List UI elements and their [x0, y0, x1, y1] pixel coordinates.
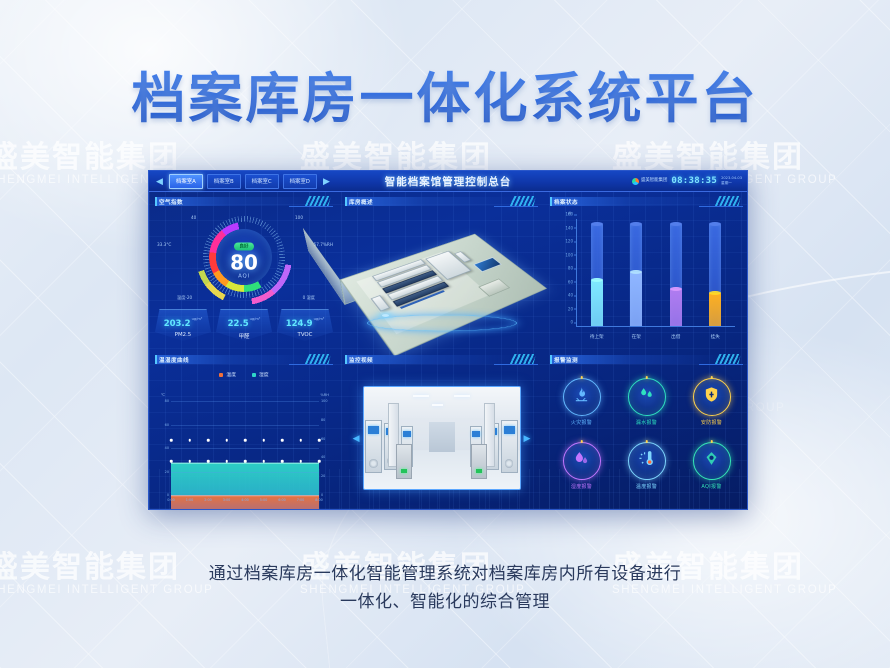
date-text: 2023-04-03 [721, 176, 742, 180]
bar-column[interactable] [629, 221, 643, 326]
alarm-status-dot [710, 376, 713, 379]
curve-y-right-tick: 60 [321, 437, 325, 441]
air-metric-cards: 203.2ug/m³ PM2.5 22.5ug/m³ 甲醛 124.9ug/m³… [155, 309, 333, 341]
header-underline [289, 206, 333, 207]
bar-column[interactable] [590, 221, 604, 326]
humidity-icon [573, 450, 590, 472]
curve-data-point [299, 460, 302, 463]
cabinet-panel-icon [504, 426, 516, 434]
archive-cabinet [365, 420, 382, 473]
alarm-item-thermometer[interactable]: 温度报警 [615, 435, 678, 497]
bar-column[interactable] [669, 221, 683, 326]
panel-header: 监控视频 [345, 354, 538, 365]
alarm-item-aqi[interactable]: AQI报警 [680, 435, 743, 497]
weekday-text: 星期一 [721, 181, 732, 185]
alarm-status-dot [645, 376, 648, 379]
curve-x-tick: 8:00 [315, 498, 323, 502]
curve-y-right-unit: %RH [320, 393, 329, 397]
ceiling [364, 387, 520, 418]
temp-humidity-area-chart: 温度湿度 ℃ %RH [155, 371, 333, 510]
header-underline [289, 364, 333, 365]
bar-fill [670, 289, 682, 326]
access-gate [396, 444, 412, 479]
legend-label: 温度 [226, 371, 236, 378]
caption-line-2: 一体化、智能化的综合管理 [0, 588, 890, 616]
curve-data-point [207, 439, 210, 442]
metric-name: TVOC [277, 332, 333, 338]
curve-y-right-tick: 100 [321, 399, 327, 403]
cabinet-panel-icon [472, 431, 480, 437]
alarm-label: 湿度报警 [571, 483, 592, 490]
alarm-label: AQI报警 [701, 483, 721, 490]
ceiling-light [454, 395, 470, 397]
alarm-icon-ring [628, 378, 666, 416]
curve-x-tick: 2:00 [204, 498, 212, 502]
video-feed[interactable] [363, 386, 521, 490]
header-deco-icon [305, 354, 331, 364]
bar-chart-y-tick: 60 [568, 279, 573, 284]
panel-temp-humidity-curve: 温湿度曲线 温度湿度 ℃ %RH [149, 350, 339, 510]
video-prev-arrow-icon[interactable]: ◀ [350, 433, 363, 444]
curve-x-tick: 5:00 [260, 498, 268, 502]
caption-line-1: 通过档案库房一体化智能管理系统对档案库房内所有设备进行 [0, 560, 890, 588]
page-caption: 通过档案库房一体化智能管理系统对档案库房内所有设备进行 一体化、智能化的综合管理 [0, 560, 890, 616]
alarm-icon-ring [563, 378, 601, 416]
water-drop-icon [638, 386, 655, 408]
tab-archive-room-a[interactable]: 档案室A [169, 174, 203, 189]
bar-chart-x-label: 待上架 [583, 334, 611, 340]
bar-chart-bars [577, 221, 735, 326]
gauge-right-scale-label: 0 湿度 [303, 295, 315, 301]
grid-line [171, 401, 319, 402]
bar-chart-y-tick: 120 [565, 239, 573, 244]
gauge-center: 良好 80 AQI [214, 235, 274, 280]
bar-chart-x-label: 在架 [622, 334, 650, 340]
watermark-cn: 盛美智能集团 [612, 142, 837, 174]
panel-title-temp-humidity: 温湿度曲线 [155, 356, 189, 364]
cabinet-panel-icon [368, 426, 380, 434]
tab-prev-arrow-icon[interactable]: ◀ [154, 176, 165, 187]
alarm-item-shield[interactable]: 安防报警 [680, 371, 743, 433]
curve-legend: 温度湿度 [155, 371, 333, 378]
curve-y-right-tick: 40 [321, 455, 325, 459]
room-3d-stage [345, 209, 538, 347]
panel-title-air-quality: 空气指数 [155, 198, 183, 206]
bar-chart-x-axis [576, 326, 735, 327]
header-underline [494, 206, 538, 207]
grid-line [171, 425, 319, 426]
curve-y-left-tick: 60 [165, 423, 169, 427]
header-right: 盛美智能集团 08:38:35 2023-04-03 星期一 [632, 176, 747, 186]
cabinet-wheel-icon [505, 459, 513, 467]
alarm-label: 温度报警 [636, 483, 657, 490]
gauge-tick-right: 100 [295, 215, 303, 220]
panel-room-overview: 库房概述 [339, 192, 544, 350]
gate-green-indicator-icon [476, 469, 481, 472]
bar-chart-y-tick: 140 [565, 225, 573, 230]
metric-unit: ug/m³ [314, 317, 325, 321]
curve-data-point [281, 439, 284, 442]
metric-value: 203.2 [164, 319, 191, 329]
curve-plot-area: 8060402001008060402000:001:002:003:004:0… [171, 401, 319, 495]
video-wrap: ◀ [345, 368, 538, 508]
alarm-grid: 火灾报警漏水报警安防报警湿度报警温度报警AQI报警 [550, 371, 743, 497]
curve-y-left-tick: 20 [165, 470, 169, 474]
panel-title-video: 监控视频 [345, 356, 373, 364]
alarm-status-dot [710, 440, 713, 443]
curve-data-point [244, 439, 247, 442]
curve-data-point [244, 460, 247, 463]
curve-data-point [262, 439, 265, 442]
aqi-value: 80 [214, 253, 274, 274]
alarm-status-dot [580, 440, 583, 443]
panel-alarm-monitor: 报警监测 火灾报警漏水报警安防报警湿度报警温度报警AQI报警 [544, 350, 748, 510]
alarm-icon-ring [628, 442, 666, 480]
curve-data-point [318, 460, 321, 463]
curve-area-svg [171, 401, 319, 510]
alarm-status-dot [580, 376, 583, 379]
bar-fill [709, 293, 721, 326]
company-logo: 盛美智能集团 [632, 178, 667, 185]
curve-y-right-tick: 80 [321, 418, 325, 422]
curve-data-point [225, 439, 228, 442]
metric-value: 124.9 [286, 319, 313, 329]
bar-chart-y-tick: 80 [568, 266, 573, 271]
access-gate [471, 444, 487, 479]
curve-data-point [318, 439, 321, 442]
glow-dot [382, 314, 389, 317]
watermark-cn: 盛美智能集团 [0, 142, 213, 174]
metric-card-pm25[interactable]: 203.2ug/m³ PM2.5 [155, 309, 211, 341]
curve-data-point [207, 460, 210, 463]
aqi-gauge-wrap: 良好 80 AQI 33.3°C 57.7%RH 温度-20 0 湿度 40 1… [155, 209, 333, 305]
grid-line [171, 448, 319, 449]
curve-data-point [170, 460, 173, 463]
curve-y-left-tick: 80 [165, 399, 169, 403]
header-deco-icon [305, 196, 331, 206]
bar-chart-y-tick: 0 [570, 320, 573, 325]
gauge-left-scale-label: 温度-20 [177, 295, 192, 301]
video-next-arrow-icon[interactable]: ▶ [521, 433, 534, 444]
aqi-quality-badge: 良好 [234, 243, 253, 251]
ceiling-light [413, 395, 429, 397]
curve-y-right-tick: 0 [321, 493, 323, 497]
cabinet-panel-icon [403, 431, 411, 437]
tab-archive-room-c[interactable]: 档案室C [245, 174, 279, 189]
curve-data-point [281, 460, 284, 463]
panel-air-quality: 空气指数 良好 80 AQI 33.3°C 57.7%RH [149, 192, 339, 350]
thermometer-icon [638, 450, 655, 472]
dashboard-header: ◀ 档案室A 档案室B 档案室C 档案室D ▶ 智能档案馆管理控制总台 盛美智能… [149, 171, 747, 192]
clock-date: 2023-04-03 星期一 [721, 176, 742, 185]
shield-icon [703, 386, 720, 408]
metric-value: 22.5 [228, 319, 249, 329]
alarm-label: 漏水报警 [636, 419, 657, 426]
alarm-icon-ring [693, 378, 731, 416]
curve-y-left-tick: 40 [165, 446, 169, 450]
alarm-label: 安防报警 [701, 419, 722, 426]
header-underline [699, 364, 743, 365]
metric-card-formaldehyde[interactable]: 22.5ug/m³ 甲醛 [216, 309, 272, 341]
curve-data-point [262, 460, 265, 463]
metric-unit: ug/m³ [192, 317, 203, 321]
aqi-unit: AQI [214, 274, 274, 280]
bar-column[interactable] [708, 221, 722, 326]
logo-mark-icon [632, 178, 639, 185]
curve-data-point [188, 460, 191, 463]
curve-data-point [188, 439, 191, 442]
curve-x-tick: 4:00 [241, 498, 249, 502]
alarm-icon-ring [563, 442, 601, 480]
curve-y-right-tick: 20 [321, 474, 325, 478]
curve-x-tick: 0:00 [167, 498, 175, 502]
archive-status-bar-chart: 件 020406080100120140160 待上架在架出借挂失 [550, 209, 743, 347]
header-underline [494, 364, 538, 365]
curve-data-point [225, 460, 228, 463]
metric-name: PM2.5 [155, 332, 211, 338]
bar-chart-y-tick: 100 [565, 252, 573, 257]
panel-title-alarm: 报警监测 [550, 356, 578, 364]
alarm-icon-ring [693, 442, 731, 480]
legend-swatch [219, 373, 223, 377]
dashboard-screenshot: ◀ 档案室A 档案室B 档案室C 档案室D ▶ 智能档案馆管理控制总台 盛美智能… [148, 170, 748, 510]
ceiling-light [432, 404, 443, 406]
archive-cabinet [501, 420, 518, 473]
header-underline [699, 206, 743, 207]
dashboard-body: 空气指数 良好 80 AQI 33.3°C 57.7%RH [149, 192, 747, 510]
tab-archive-room-d[interactable]: 档案室D [283, 174, 317, 189]
panel-video-monitor: 监控视频 ◀ [339, 350, 544, 510]
panel-header: 报警监测 [550, 354, 743, 365]
room-tabs: ◀ 档案室A 档案室B 档案室C 档案室D ▶ [149, 174, 332, 189]
alarm-item-humidity[interactable]: 湿度报警 [550, 435, 613, 497]
panel-archive-status: 档案状态 件 020406080100120140160 待上架在架出借挂失 [544, 192, 748, 350]
page-title: 档案库房一体化系统平台 [0, 54, 890, 133]
metric-unit: ug/m³ [250, 317, 261, 321]
bar-chart-y-tick: 40 [568, 293, 573, 298]
curve-y-left-tick: 0 [167, 493, 169, 497]
grid-line [171, 495, 319, 496]
grid-line [171, 472, 319, 473]
watermark-cn: 盛美智能集团 [300, 142, 525, 174]
logo-text: 盛美智能集团 [641, 178, 667, 183]
panel-header: 温湿度曲线 [155, 354, 333, 365]
curve-y-left-unit: ℃ [161, 393, 165, 397]
metric-card-tvoc[interactable]: 124.9ug/m³ TVOC [277, 309, 333, 341]
curve-x-tick: 1:00 [186, 498, 194, 502]
bar-chart-y-tick: 20 [568, 306, 573, 311]
aqi-gauge: 良好 80 AQI [192, 211, 296, 303]
legend-item[interactable]: 温度 [219, 371, 236, 378]
panel-header: 档案状态 [550, 196, 743, 207]
alarm-item-water-drop[interactable]: 漏水报警 [615, 371, 678, 433]
header-deco-icon [715, 354, 741, 364]
header-deco-icon [510, 354, 536, 364]
gauge-tick-left: 40 [191, 215, 196, 220]
bar-fill [630, 272, 642, 326]
legend-item[interactable]: 湿度 [252, 371, 269, 378]
curve-data-point [170, 439, 173, 442]
legend-label: 湿度 [259, 371, 269, 378]
gate-green-indicator-icon [401, 469, 406, 472]
panel-header: 库房概述 [345, 196, 538, 207]
panel-title-archive-status: 档案状态 [550, 198, 578, 206]
legend-swatch [252, 373, 256, 377]
alarm-item-fire[interactable]: 火灾报警 [550, 371, 613, 433]
alarm-label: 火灾报警 [571, 419, 592, 426]
corridor-scene [364, 387, 520, 489]
corridor-vanishing-point [429, 422, 455, 452]
curve-x-tick: 6:00 [278, 498, 286, 502]
gauge-temperature-label: 33.3°C [157, 242, 171, 247]
bar-chart-x-labels: 待上架在架出借挂失 [577, 334, 735, 340]
alarm-status-dot [645, 440, 648, 443]
curve-x-tick: 7:00 [297, 498, 305, 502]
header-deco-icon [715, 196, 741, 206]
curve-data-point [299, 439, 302, 442]
bar-fill [591, 280, 603, 326]
glow-ring [367, 315, 517, 331]
panel-header: 空气指数 [155, 196, 333, 207]
cabinet-wheel-icon [369, 459, 377, 467]
panel-title-room-overview: 库房概述 [345, 198, 373, 206]
metric-name: 甲醛 [216, 332, 272, 340]
fire-icon [573, 386, 590, 408]
tab-archive-room-b[interactable]: 档案室B [207, 174, 241, 189]
room-3d-model[interactable] [339, 234, 546, 357]
aqi-icon [703, 450, 720, 472]
bar-chart-x-label: 挂失 [701, 334, 729, 340]
clock-time: 08:38:35 [671, 176, 717, 186]
header-deco-icon [510, 196, 536, 206]
bar-chart-x-label: 出借 [662, 334, 690, 340]
curve-x-tick: 3:00 [223, 498, 231, 502]
bar-chart-y-tick: 160 [565, 212, 573, 217]
tab-next-arrow-icon[interactable]: ▶ [321, 176, 332, 187]
